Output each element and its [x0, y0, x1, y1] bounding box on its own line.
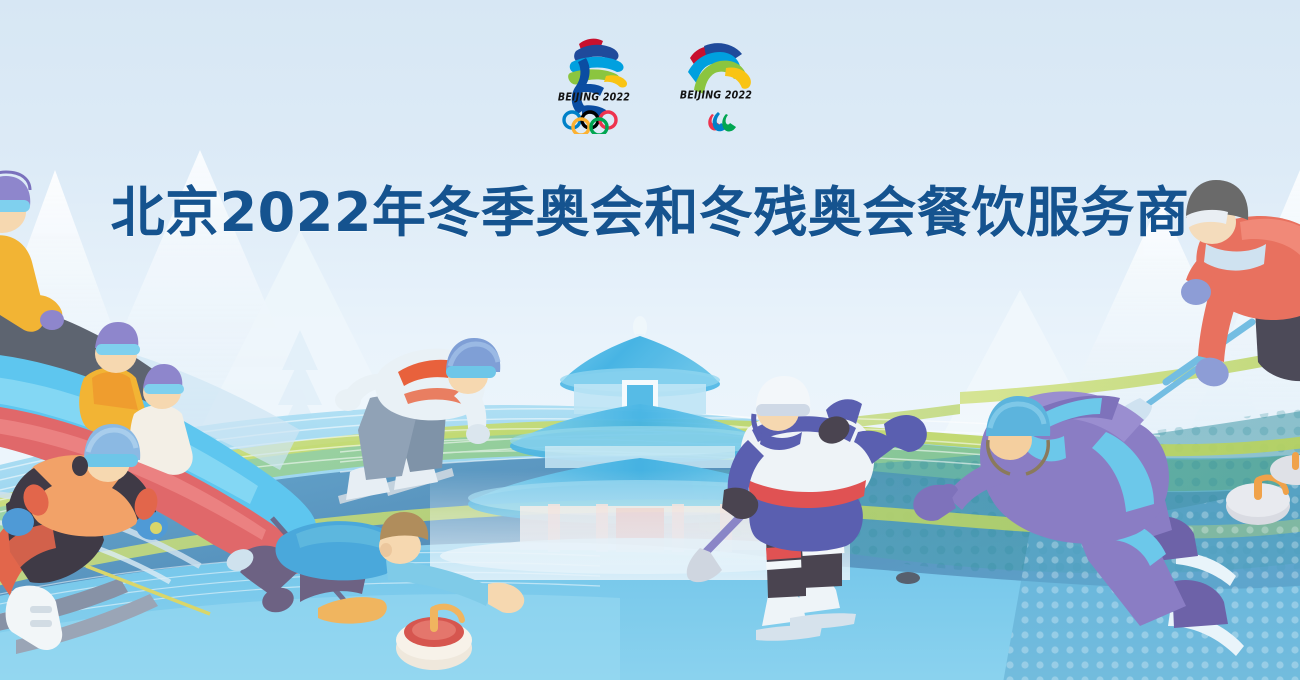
- emblem-group: BEIJING 2022 BEIJING 2022: [540, 28, 770, 138]
- olympic-emblem-swoosh: [568, 39, 627, 118]
- beijing-2022-olympic-emblem: BEIJING 2022: [546, 28, 642, 134]
- olympic-rings: [564, 112, 616, 134]
- paralympic-agitos: [708, 112, 736, 131]
- beijing-2022-catering-supplier-banner: BEIJING 2022 BEIJING 2022: [0, 0, 1300, 680]
- olympic-wordmark: BEIJING 2022: [546, 91, 642, 103]
- banner-title: 北京2022年冬季奥会和冬残奥会餐饮服务商: [0, 180, 1300, 246]
- beijing-2022-paralympic-emblem: BEIJING 2022: [668, 28, 764, 134]
- paralympic-wordmark: BEIJING 2022: [668, 89, 764, 101]
- paralympic-emblem-swoosh: [688, 43, 751, 94]
